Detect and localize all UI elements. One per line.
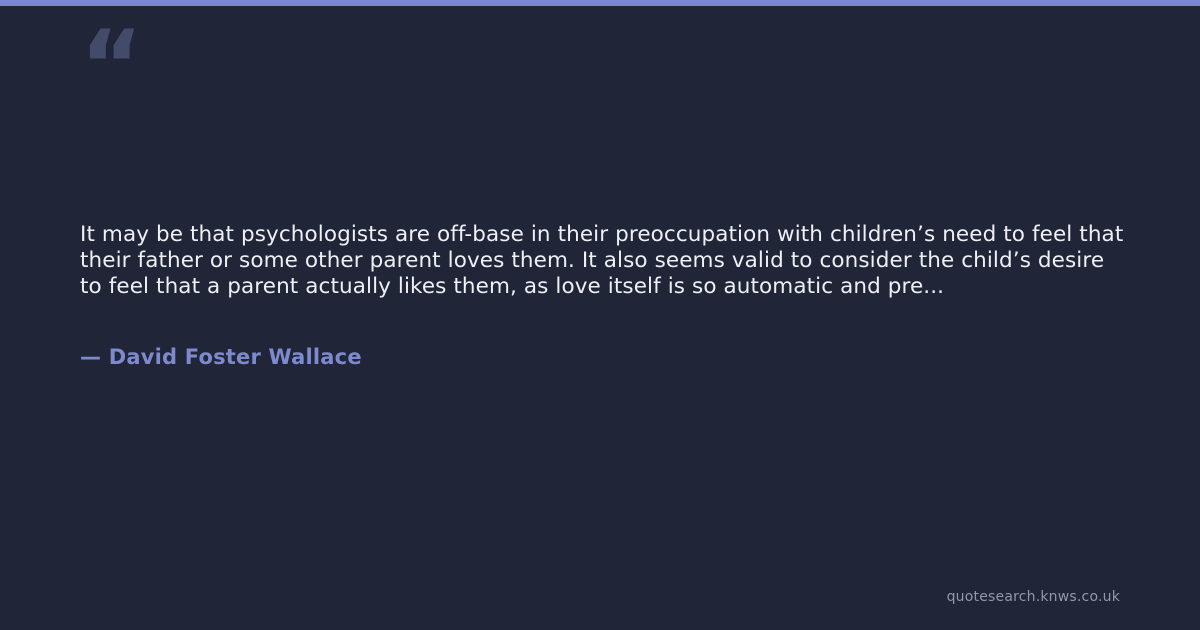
quote-card: “ It may be that psychologists are off-b… — [0, 0, 1200, 630]
quotation-mark-icon: “ — [80, 18, 141, 114]
quote-text: It may be that psychologists are off-bas… — [80, 222, 1125, 300]
top-accent-bar — [0, 0, 1200, 6]
quote-attribution: — David Foster Wallace — [80, 345, 1125, 369]
footer-site-url: quotesearch.knws.co.uk — [947, 589, 1120, 605]
quote-content: It may be that psychologists are off-bas… — [80, 222, 1125, 369]
